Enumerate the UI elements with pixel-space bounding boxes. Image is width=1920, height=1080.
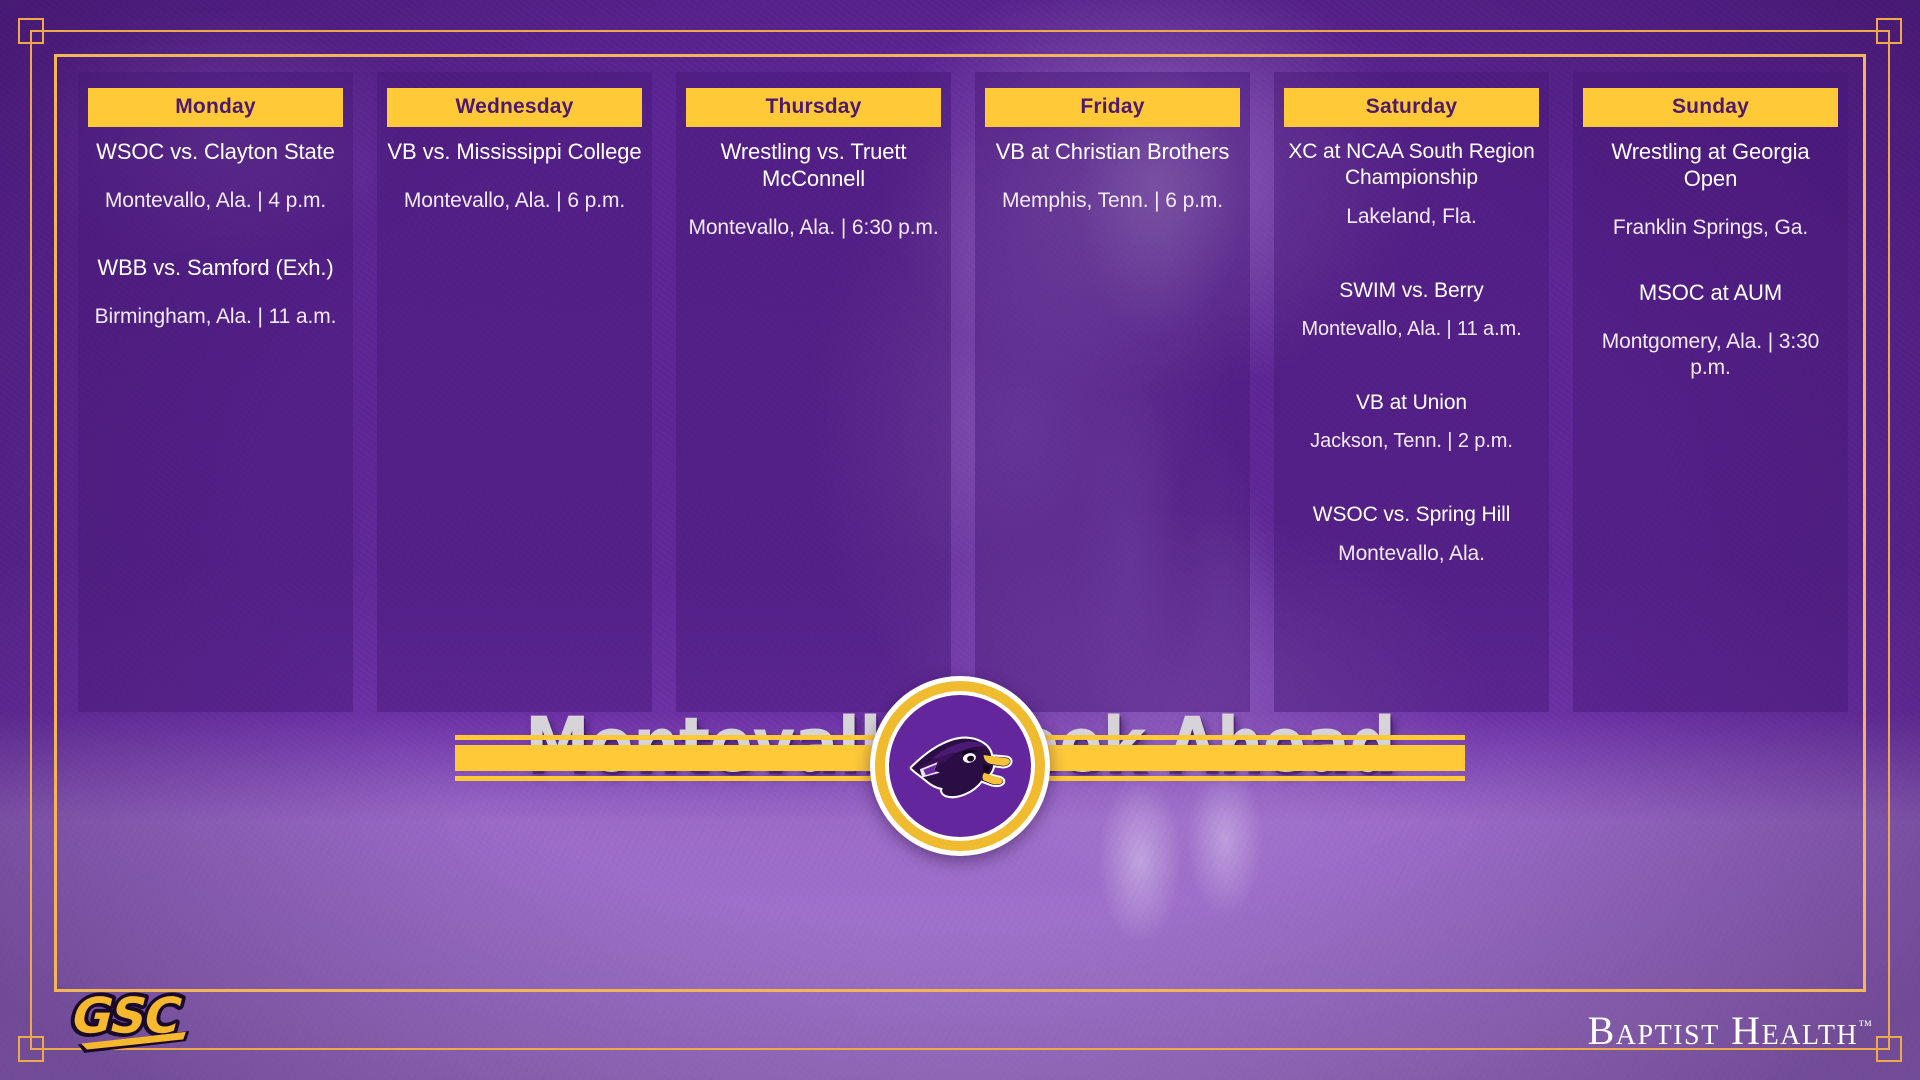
event-title: WSOC vs. Spring Hill <box>1284 502 1539 528</box>
event-item: WBB vs. Samford (Exh.) Birmingham, Ala. … <box>88 255 343 329</box>
event-item: VB vs. Mississippi College Montevallo, A… <box>387 139 642 213</box>
event-detail: Birmingham, Ala. | 11 a.m. <box>88 304 343 330</box>
event-detail: Franklin Springs, Ga. <box>1583 215 1838 241</box>
events-thursday: Wrestling vs. Truett McConnell Montevall… <box>686 139 941 274</box>
event-title: Wrestling at Georgia Open <box>1583 139 1838 193</box>
event-title: WBB vs. Samford (Exh.) <box>88 255 343 282</box>
event-item: SWIM vs. Berry Montevallo, Ala. | 11 a.m… <box>1284 278 1539 342</box>
event-detail: Memphis, Tenn. | 6 p.m. <box>985 188 1240 214</box>
event-detail: Montgomery, Ala. | 3:30 p.m. <box>1583 329 1838 380</box>
events-sunday: Wrestling at Georgia Open Franklin Sprin… <box>1583 139 1838 414</box>
graphic-canvas: Monday WSOC vs. Clayton State Montevallo… <box>0 0 1920 1080</box>
corner-accent-top-right <box>1876 18 1902 44</box>
falcon-head-icon <box>901 722 1019 811</box>
event-item: Wrestling at Georgia Open Franklin Sprin… <box>1583 139 1838 240</box>
event-detail: Lakeland, Fla. <box>1284 204 1539 230</box>
logo-face <box>889 695 1031 837</box>
baptist-health-wordmark: Baptist Health <box>1588 1008 1859 1053</box>
events-saturday: XC at NCAA South Region Championship Lak… <box>1284 139 1539 615</box>
day-column-thursday: Thursday Wrestling vs. Truett McConnell … <box>676 72 951 712</box>
events-friday: VB at Christian Brothers Memphis, Tenn. … <box>985 139 1240 247</box>
corner-accent-bottom-left <box>18 1036 44 1062</box>
day-header-saturday: Saturday <box>1284 88 1539 127</box>
gsc-logo-icon: GSC GSC <box>62 982 232 1058</box>
event-item: Wrestling vs. Truett McConnell Montevall… <box>686 139 941 240</box>
event-title: VB at Christian Brothers <box>985 139 1240 166</box>
day-header-sunday: Sunday <box>1583 88 1838 127</box>
event-detail: Montevallo, Ala. | 6 p.m. <box>387 188 642 214</box>
corner-accent-top-left <box>18 18 44 44</box>
day-column-saturday: Saturday XC at NCAA South Region Champio… <box>1274 72 1549 712</box>
day-column-sunday: Sunday Wrestling at Georgia Open Frankli… <box>1573 72 1848 712</box>
day-header-wednesday: Wednesday <box>387 88 642 127</box>
event-item: XC at NCAA South Region Championship Lak… <box>1284 139 1539 230</box>
day-column-wednesday: Wednesday VB vs. Mississippi College Mon… <box>377 72 652 712</box>
day-header-monday: Monday <box>88 88 343 127</box>
event-title: VB at Union <box>1284 390 1539 416</box>
event-detail: Montevallo, Ala. <box>1284 541 1539 567</box>
event-title: MSOC at AUM <box>1583 280 1838 307</box>
day-column-friday: Friday VB at Christian Brothers Memphis,… <box>975 72 1250 712</box>
event-title: Wrestling vs. Truett McConnell <box>686 139 941 193</box>
event-item: WSOC vs. Spring Hill Montevallo, Ala. <box>1284 502 1539 567</box>
day-header-friday: Friday <box>985 88 1240 127</box>
team-logo <box>870 676 1050 856</box>
event-item: VB at Union Jackson, Tenn. | 2 p.m. <box>1284 390 1539 454</box>
event-detail: Montevallo, Ala. | 11 a.m. <box>1284 317 1539 341</box>
events-monday: WSOC vs. Clayton State Montevallo, Ala. … <box>88 139 343 364</box>
event-detail: Jackson, Tenn. | 2 p.m. <box>1284 429 1539 453</box>
corner-accent-bottom-right <box>1876 1036 1902 1062</box>
event-item: WSOC vs. Clayton State Montevallo, Ala. … <box>88 139 343 213</box>
trademark-mark: ™ <box>1858 1019 1872 1034</box>
gsc-logo-svg: GSC GSC <box>62 982 232 1058</box>
day-column-monday: Monday WSOC vs. Clayton State Montevallo… <box>78 72 353 712</box>
event-title: SWIM vs. Berry <box>1284 278 1539 304</box>
event-item: VB at Christian Brothers Memphis, Tenn. … <box>985 139 1240 213</box>
schedule-grid: Monday WSOC vs. Clayton State Montevallo… <box>78 72 1848 712</box>
event-detail: Montevallo, Ala. | 6:30 p.m. <box>686 215 941 241</box>
day-header-thursday: Thursday <box>686 88 941 127</box>
baptist-health-logo: Baptist Health™ <box>1588 1007 1872 1054</box>
event-item: MSOC at AUM Montgomery, Ala. | 3:30 p.m. <box>1583 280 1838 380</box>
event-title: VB vs. Mississippi College <box>387 139 642 166</box>
event-title: XC at NCAA South Region Championship <box>1284 139 1539 190</box>
events-wednesday: VB vs. Mississippi College Montevallo, A… <box>387 139 642 247</box>
event-title: WSOC vs. Clayton State <box>88 139 343 166</box>
event-detail: Montevallo, Ala. | 4 p.m. <box>88 188 343 214</box>
